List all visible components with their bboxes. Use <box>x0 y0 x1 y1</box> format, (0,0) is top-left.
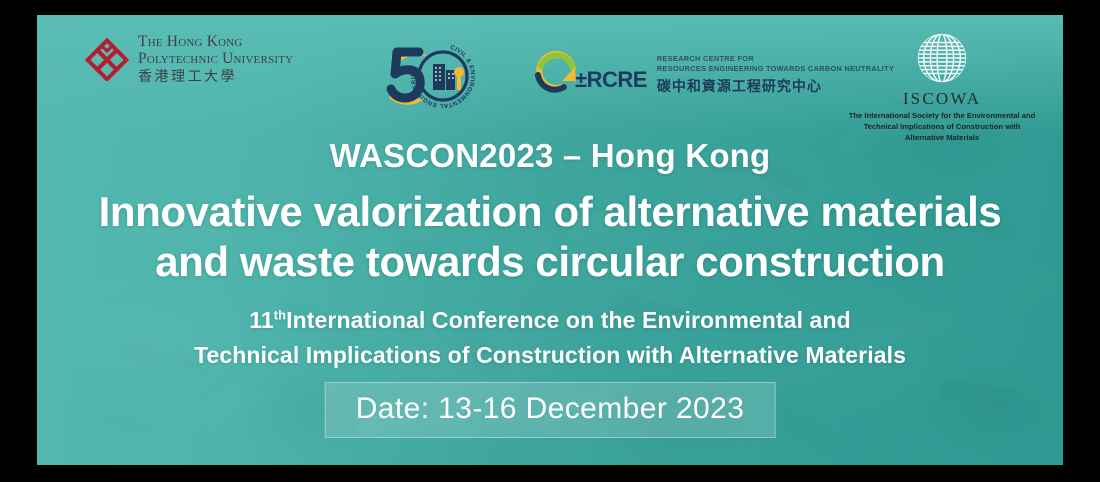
iscowa-tagline-line1: The International Society for the Enviro… <box>825 111 1059 122</box>
polyu-knot-icon <box>85 37 129 81</box>
subtitle-line1: International Conference on the Environm… <box>286 307 851 333</box>
logo-row: The Hong Kong Polytechnic University 香港理… <box>37 15 1063 120</box>
subtitle-number: 11 <box>249 307 274 333</box>
conference-banner: The Hong Kong Polytechnic University 香港理… <box>37 15 1063 465</box>
iscowa-logo: ISCOWA The International Society for the… <box>817 29 1063 143</box>
mesh-globe-icon <box>913 29 971 87</box>
fifty-anniversary-icon: CIVIL & ENVIRONMENTAL ENGINEERING <box>385 42 477 114</box>
iscowa-tagline-line2: Technical Implications of Construction w… <box>825 122 1059 133</box>
headline-line2: and waste towards circular construction <box>37 237 1063 287</box>
subtitle-line2: Technical Implications of Construction w… <box>37 338 1063 373</box>
subtitle: 11thInternational Conference on the Envi… <box>37 303 1063 372</box>
iscowa-wordmark: ISCOWA <box>817 89 1063 109</box>
subtitle-ordinal: th <box>274 307 286 322</box>
page-title: Innovative valorization of alternative m… <box>37 187 1063 288</box>
circular-arrow-icon <box>529 51 581 97</box>
date-badge: Date: 13-16 December 2023 <box>325 382 776 438</box>
cee-50th-logo: CIVIL & ENVIRONMENTAL ENGINEERING <box>385 42 477 114</box>
polyu-line1: The Hong Kong <box>138 33 293 50</box>
polyu-line2: Polytechnic University <box>138 50 293 67</box>
polyu-chinese-name: 香港理工大學 <box>138 69 293 85</box>
conference-name: WASCON2023 – Hong Kong <box>37 137 1063 175</box>
polyu-logo: The Hong Kong Polytechnic University 香港理… <box>85 33 293 84</box>
rcre-wordmark: ±RCRE <box>575 67 647 93</box>
headline-line1: Innovative valorization of alternative m… <box>99 188 1002 235</box>
